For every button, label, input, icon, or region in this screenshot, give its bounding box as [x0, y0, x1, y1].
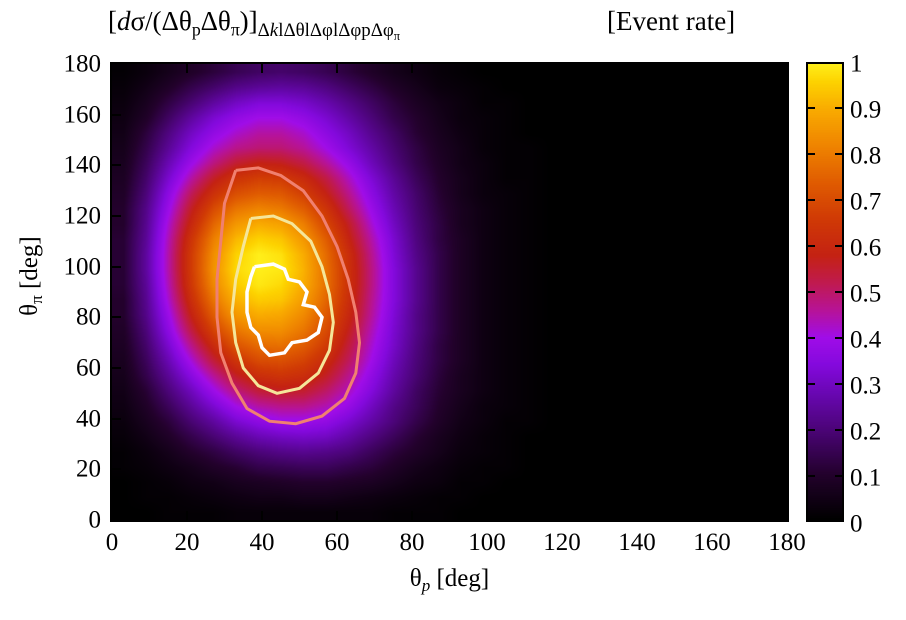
- y-tick-mark: [112, 367, 121, 369]
- y-axis-tick-label: 60: [5, 356, 101, 381]
- colorbar-tick-mark: [835, 383, 844, 385]
- colorbar-tick-mark: [835, 153, 844, 155]
- colorbar: [806, 62, 844, 522]
- x-axis-tick-label: 140: [597, 530, 677, 555]
- x-axis-tick-label: 160: [672, 530, 752, 555]
- colorbar-tick-label: 0.9: [850, 98, 904, 123]
- colorbar-tick-mark: [835, 245, 844, 247]
- x-tick-mark: [561, 511, 563, 520]
- x-tick-mark: [186, 64, 188, 73]
- x-axis-tick-label: 100: [447, 530, 527, 555]
- y-tick-mark: [778, 418, 787, 420]
- y-axis-tick-label: 160: [5, 102, 101, 127]
- x-axis-tick-label: 120: [522, 530, 602, 555]
- x-axis-tick-label: 60: [297, 530, 377, 555]
- y-tick-mark: [778, 367, 787, 369]
- colorbar-tick-labels: 00.10.20.30.40.50.60.70.80.91: [850, 62, 906, 522]
- colorbar-tick-label: 0.4: [850, 328, 904, 353]
- colorbar-tick-label: 0.2: [850, 420, 904, 445]
- y-axis-tick-label: 0: [5, 508, 101, 533]
- colorbar-tick-label: 0.6: [850, 236, 904, 261]
- y-tick-mark: [778, 316, 787, 318]
- colorbar-tick-label: 0.8: [850, 144, 904, 169]
- y-tick-mark: [778, 266, 787, 268]
- colorbar-tick-mark: [835, 107, 844, 109]
- colorbar-tick-mark: [806, 199, 815, 201]
- x-tick-mark: [411, 511, 413, 520]
- colorbar-tick-mark: [835, 291, 844, 293]
- y-tick-mark: [778, 114, 787, 116]
- event-rate-label: [Event rate]: [607, 8, 735, 35]
- x-tick-mark: [261, 64, 263, 73]
- y-axis-tick-label: 20: [5, 457, 101, 482]
- x-tick-mark: [711, 511, 713, 520]
- y-tick-mark: [112, 468, 121, 470]
- colorbar-tick-mark: [806, 337, 815, 339]
- colorbar-tick-label: 0.3: [850, 374, 904, 399]
- x-tick-mark: [336, 64, 338, 73]
- figure-root: [dσ/(ΔθpΔθπ)]ΔklΔθlΔφlΔφpΔφπ [Event rate…: [0, 0, 906, 620]
- y-tick-mark: [112, 114, 121, 116]
- colorbar-tick-label: 0.1: [850, 466, 904, 491]
- x-tick-mark: [186, 511, 188, 520]
- colorbar-tick-mark: [835, 475, 844, 477]
- x-tick-mark: [711, 64, 713, 73]
- colorbar-tick-mark: [806, 429, 815, 431]
- x-axis-tick-labels: 020406080100120140160180: [110, 530, 789, 562]
- colorbar-tick-mark: [806, 107, 815, 109]
- colorbar-tick-mark: [806, 383, 815, 385]
- x-tick-mark: [336, 511, 338, 520]
- x-axis-tick-label: 40: [222, 530, 302, 555]
- y-axis-tick-label: 140: [5, 153, 101, 178]
- y-tick-mark: [778, 468, 787, 470]
- colorbar-tick-label: 1: [850, 52, 904, 77]
- colorbar-tick-mark: [835, 199, 844, 201]
- y-axis-tick-label: 40: [5, 406, 101, 431]
- colorbar-tick-label: 0.5: [850, 282, 904, 307]
- x-tick-mark: [486, 64, 488, 73]
- x-axis-tick-label: 80: [372, 530, 452, 555]
- page-title: [dσ/(ΔθpΔθπ)]ΔklΔθlΔφlΔφpΔφπ: [108, 8, 400, 43]
- x-axis-title: θp [deg]: [110, 566, 789, 594]
- colorbar-tick-label: 0.7: [850, 190, 904, 215]
- colorbar-tick-mark: [806, 475, 815, 477]
- colorbar-tick-label: 0: [850, 512, 904, 537]
- heatmap-plot-area: [110, 62, 789, 522]
- title-row: [dσ/(ΔθpΔθπ)]ΔklΔθlΔφlΔφpΔφπ [Event rate…: [0, 2, 800, 54]
- colorbar-tick-mark: [835, 429, 844, 431]
- y-axis-title: θπ [deg]: [17, 196, 45, 356]
- y-tick-mark: [112, 316, 121, 318]
- y-tick-mark: [778, 164, 787, 166]
- y-tick-mark: [112, 418, 121, 420]
- x-tick-mark: [411, 64, 413, 73]
- x-axis-tick-label: 180: [747, 530, 827, 555]
- x-tick-mark: [636, 511, 638, 520]
- x-tick-mark: [261, 511, 263, 520]
- y-tick-mark: [112, 266, 121, 268]
- colorbar-tick-mark: [806, 245, 815, 247]
- x-tick-mark: [636, 64, 638, 73]
- y-axis-tick-label: 180: [5, 52, 101, 77]
- colorbar-tick-mark: [806, 291, 815, 293]
- x-axis-tick-label: 0: [72, 530, 152, 555]
- x-axis-tick-label: 20: [147, 530, 227, 555]
- colorbar-tick-mark: [835, 337, 844, 339]
- x-tick-mark: [486, 511, 488, 520]
- contour-line-outer: [217, 168, 360, 424]
- y-tick-mark: [778, 215, 787, 217]
- colorbar-tick-mark: [806, 153, 815, 155]
- contour-line-inner: [247, 264, 322, 355]
- y-tick-mark: [112, 215, 121, 217]
- contour-overlay: [112, 64, 787, 520]
- y-tick-mark: [112, 164, 121, 166]
- x-tick-mark: [561, 64, 563, 73]
